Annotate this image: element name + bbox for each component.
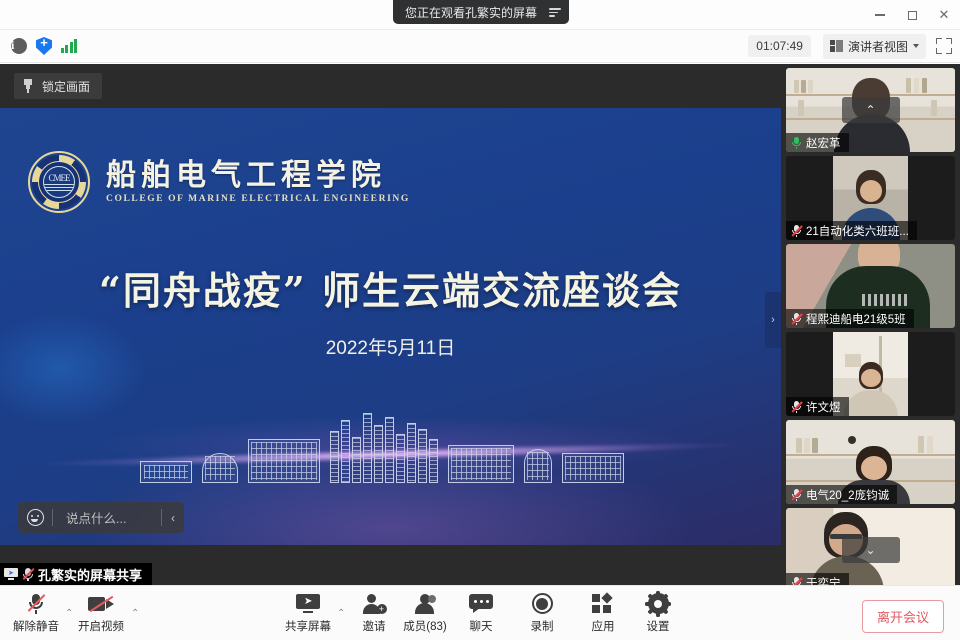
emoji-button[interactable] [18,509,52,526]
collapse-panel-handle[interactable]: › [765,292,781,348]
building-5 [448,445,514,483]
microphone-muted-icon [26,592,46,615]
building-7 [562,453,624,483]
meeting-bottom-toolbar: 解除静音 ⌃ 开启视频 ⌃ ➤ 共享屏幕 ⌃ + 邀请 成员(83) 聊天 录制 [0,585,960,640]
record-icon [532,592,553,615]
info-icon: i [11,38,27,54]
participant-tile-0[interactable]: ⌃ 赵宏革 [786,68,955,152]
title-bar: 您正在观看孔繁实的屏幕 ✕ [0,0,960,30]
participant-name-bar-2: 程熙迪船电21级5班 [786,309,914,328]
toolbar-chat-button[interactable]: 聊天 [450,592,512,636]
college-name-cn: 船舶电气工程学院 [106,160,410,192]
chevron-down-icon [913,44,919,48]
close-button[interactable]: ✕ [928,0,960,30]
building-2 [202,453,238,483]
speaker-view-icon [830,40,843,52]
toolbar-record-button[interactable]: 录制 [511,592,573,636]
participant-name-3: 许文煜 [806,399,841,415]
slide-date: 2022年5月11日 [0,333,781,360]
sub-toolbar-left: i [0,36,79,56]
college-logo-row: CMEE 船舶电气工程学院 COLLEGE OF MARINE ELECTRIC… [28,151,410,213]
toolbar-participants-button[interactable]: 成员(83) [394,592,456,636]
screen-share-small-icon: ➤ [4,568,18,580]
toolbar-start-video-button[interactable]: 开启视频 [70,592,132,636]
slide-title: “同舟战疫” 师生云端交流座谈会 [0,260,781,315]
view-mode-selector[interactable]: 演讲者视图 [823,34,926,59]
building-1 [140,461,192,483]
toolbar-apps-label: 应用 [592,618,615,634]
toolbar-settings-button[interactable]: 设置 [627,592,689,636]
sub-toolbar-right: 01:07:49 演讲者视图 [748,34,960,59]
toolbar-unmute-label: 解除静音 [13,618,59,634]
toolbar-record-label: 录制 [531,618,554,634]
mouse-cursor [616,277,624,289]
smiley-icon [27,509,44,526]
leave-meeting-button[interactable]: 离开会议 [862,600,944,633]
emblem-monogram: CMEE [44,173,74,183]
toolbar-chat-label: 聊天 [470,618,493,634]
participant-name-0: 赵宏革 [806,135,841,151]
meeting-timer: 01:07:49 [748,35,811,57]
pin-icon [23,79,33,93]
participant-name-2: 程熙迪船电21级5班 [806,311,906,327]
shared-screen-area: 锁定画面 CMEE 船舶电气工程学院 COLLEGE OF MARINE ELE… [0,64,781,585]
participant-name-bar-4: 电气20_2庞钧诚 [786,485,897,504]
participant-tile-3[interactable]: 许文煜 [786,332,955,416]
window-controls: ✕ [864,0,960,30]
participant-tile-4[interactable]: 电气20_2庞钧诚 [786,420,955,504]
microphone-muted-icon [791,576,802,585]
chevron-down-icon: ⌄ [865,543,875,557]
microphone-muted-icon [791,400,802,413]
participant-tile-2[interactable]: 程熙迪船电21级5班 [786,244,955,328]
microphone-muted-icon [791,488,802,501]
shield-security-icon [36,37,52,55]
chevron-up-icon: ⌃ [865,103,875,117]
meeting-sub-toolbar: i 01:07:49 演讲者视图 [0,30,960,63]
participant-name-4: 电气20_2庞钧诚 [806,487,889,503]
toolbar-settings-label: 设置 [647,618,670,634]
toolbar-share-screen-button[interactable]: ➤ 共享屏幕 [277,592,339,636]
lock-view-button[interactable]: 锁定画面 [14,73,102,99]
microphone-muted-icon [791,312,802,325]
maximize-icon [908,11,917,20]
security-button[interactable] [34,36,54,56]
hamburger-menu-icon[interactable] [549,7,561,17]
close-icon: ✕ [939,7,950,23]
share-screen-icon: ➤ [296,592,320,615]
camera-off-icon [88,592,114,615]
screen-share-banner[interactable]: 您正在观看孔繁实的屏幕 [393,0,569,24]
participant-name-bar-0: 赵宏革 [786,133,849,152]
minimize-icon [875,14,885,15]
toolbar-participants-label: 成员(83) [403,618,446,634]
info-button[interactable]: i [9,36,29,56]
meeting-window: 您正在观看孔繁实的屏幕 ✕ i 01:07:49 演讲者视图 [0,0,960,640]
participant-name-bar-5: 于奕宁 [786,573,849,585]
microphone-icon [791,136,802,149]
microphone-muted-icon [22,567,34,581]
building-4-towers [330,413,438,483]
participant-name-bar-3: 许文煜 [786,397,849,416]
sharer-name-label: ➤ 孔繁实的屏幕共享 [0,563,152,585]
participant-name-bar-1: 21自动化类六班班... [786,221,917,240]
network-button[interactable] [59,36,79,56]
college-name-en: COLLEGE OF MARINE ELECTRICAL ENGINEERING [106,194,410,204]
microphone-muted-icon [791,224,802,237]
fullscreen-icon[interactable] [936,38,952,54]
participant-name-5: 于奕宁 [806,575,841,586]
video-options-chevron-up-icon[interactable]: ⌃ [131,608,139,619]
slide-chat-input-bar[interactable]: 说点什么... ‹ [18,502,184,533]
maximize-button[interactable] [896,0,928,30]
invite-person-icon: + [363,592,386,615]
college-name-block: 船舶电气工程学院 COLLEGE OF MARINE ELECTRICAL EN… [106,160,410,204]
participants-icon [413,592,437,615]
campus-skyline-illustration [140,405,660,483]
tile-expand-button-5[interactable]: ⌄ [842,537,900,563]
chat-bubble-icon [469,592,493,615]
building-3 [248,439,320,483]
gear-icon [648,592,669,615]
participant-thumbnail-strip[interactable]: ⌃ 赵宏革 21自动化类六班班... [781,64,960,585]
view-mode-label: 演讲者视图 [848,38,908,55]
toolbar-unmute-button[interactable]: 解除静音 [5,592,67,636]
toolbar-invite-label: 邀请 [363,618,386,634]
toolbar-share-screen-label: 共享屏幕 [285,618,331,634]
toolbar-start-video-label: 开启视频 [78,618,124,634]
toolbar-apps-button[interactable]: 应用 [572,592,634,636]
screen-share-banner-text: 您正在观看孔繁实的屏幕 [405,4,537,21]
apps-grid-icon [592,592,615,615]
chevron-left-icon[interactable]: ‹ [162,511,184,525]
participant-name-1: 21自动化类六班班... [806,223,909,239]
tile-expand-button-0[interactable]: ⌃ [842,97,900,123]
chat-input-placeholder[interactable]: 说点什么... [53,508,161,527]
participant-tile-1[interactable]: 21自动化类六班班... [786,156,955,240]
presentation-slide: CMEE 船舶电气工程学院 COLLEGE OF MARINE ELECTRIC… [0,108,781,545]
chevron-right-icon: › [771,314,775,326]
sharer-name-text: 孔繁实的屏幕共享 [38,565,142,584]
minimize-button[interactable] [864,0,896,30]
college-emblem-icon: CMEE [28,151,90,213]
building-6-monument [524,449,552,483]
participant-tile-5[interactable]: ⌄ 于奕宁 [786,508,955,585]
lock-view-label: 锁定画面 [42,78,90,95]
meeting-stage: 锁定画面 CMEE 船舶电气工程学院 COLLEGE OF MARINE ELE… [0,64,960,585]
network-signal-icon [61,39,78,53]
